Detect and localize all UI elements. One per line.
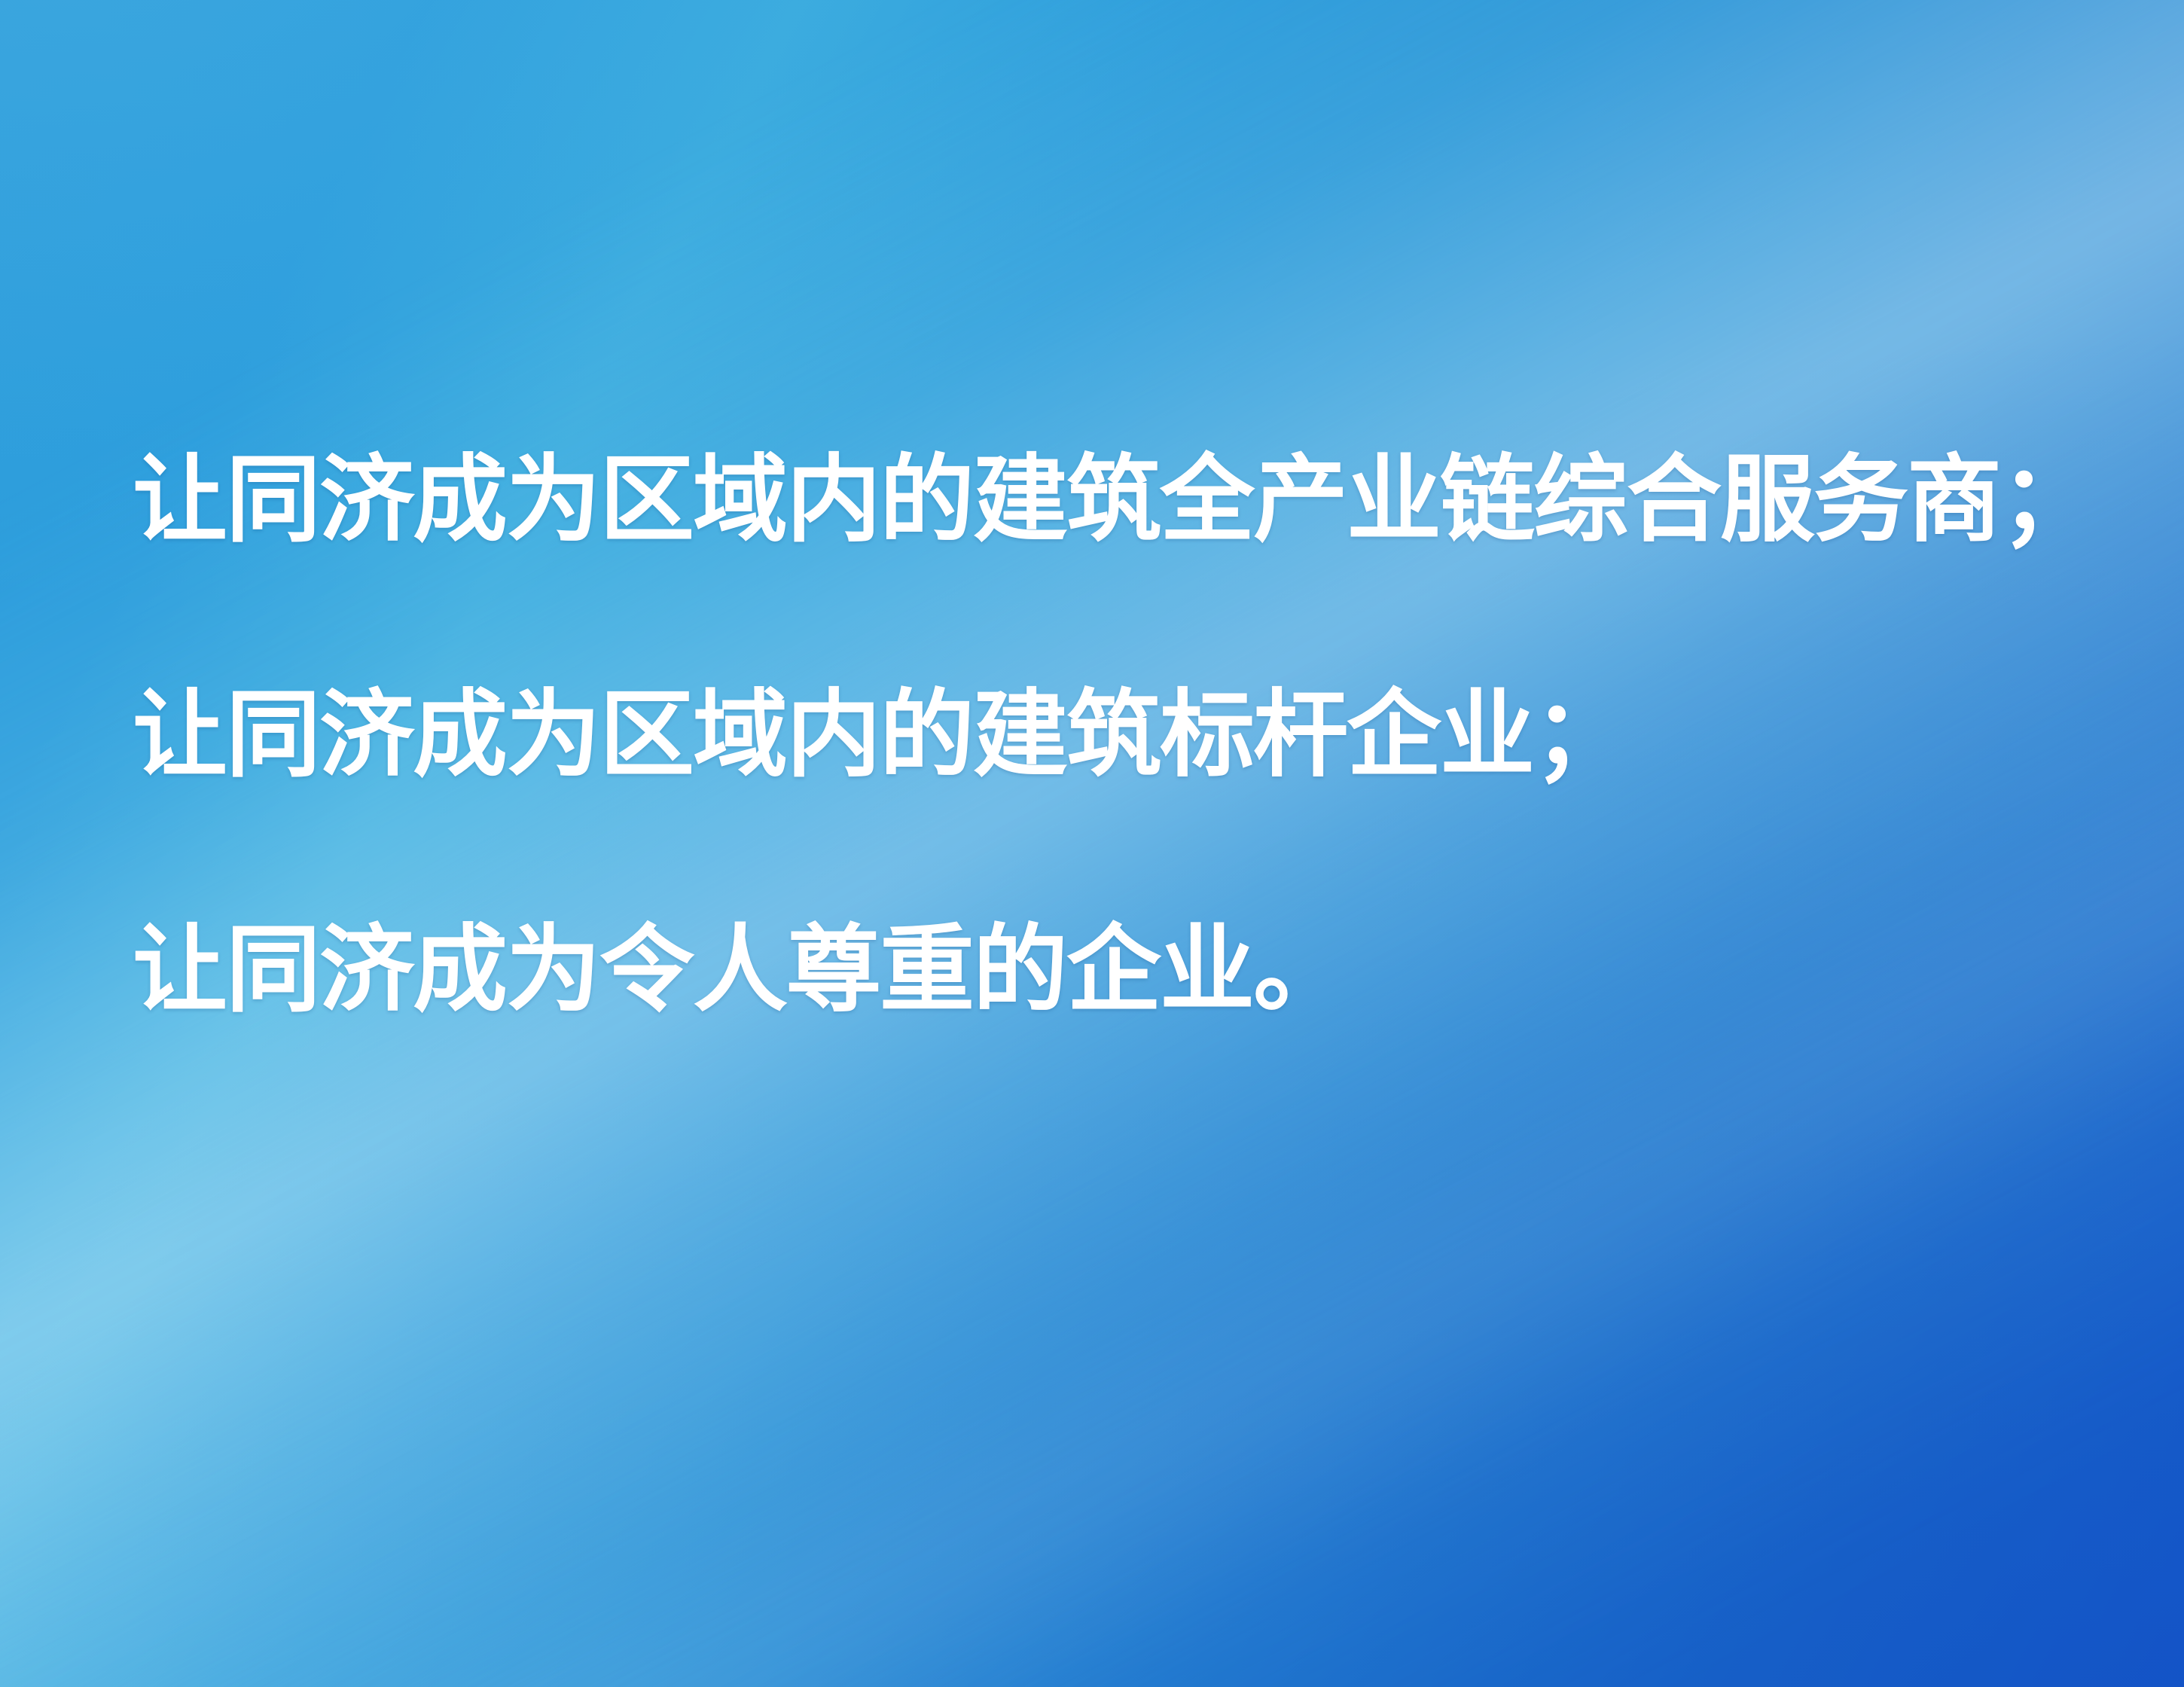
slide-line-1: 让同济成为区域内的建筑全产业链综合服务商； [133, 452, 2091, 547]
slide-line-3: 让同济成为令人尊重的企业。 [133, 922, 2091, 1017]
slide-canvas: 让同济成为区域内的建筑全产业链综合服务商； 让同济成为区域内的建筑标杆企业； 让… [0, 0, 2184, 1687]
slide-line-2: 让同济成为区域内的建筑标杆企业； [133, 687, 2091, 782]
slide-text-block: 让同济成为区域内的建筑全产业链综合服务商； 让同济成为区域内的建筑标杆企业； 让… [133, 452, 2091, 1017]
